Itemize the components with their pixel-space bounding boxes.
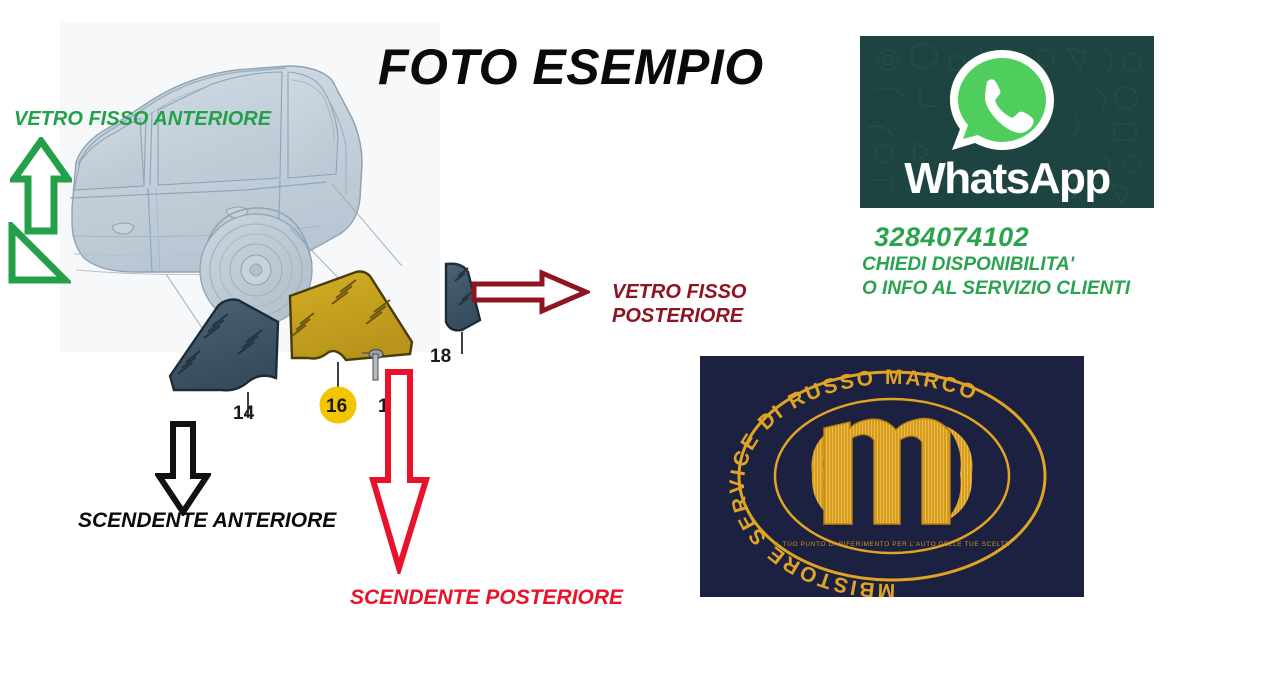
shop-logo-image: MRICAMBISTORE SERVICE DI RUSSO MARCO IL … (700, 356, 1084, 597)
right-arrow-dark-red-icon (470, 268, 590, 316)
shop-logo-tagline: IL TUO PUNTO DI RIFERIMENTO PER L'AUTO D… (774, 541, 1010, 548)
callout-scendente-posteriore: SCENDENTE POSTERIORE (350, 586, 623, 611)
callout-scendente-anteriore: SCENDENTE ANTERIORE (78, 509, 336, 534)
down-arrow-black-icon (155, 420, 211, 516)
down-arrow-red-icon (368, 368, 430, 574)
callout-vetro-fisso-anteriore: VETRO FISSO ANTERIORE (14, 108, 271, 132)
callout-vetro-fisso-posteriore-line2: POSTERIORE (612, 305, 746, 329)
contact-line-1: CHIEDI DISPONIBILITA' (862, 253, 1202, 277)
page-title: FOTO ESEMPIO (378, 38, 764, 96)
whatsapp-banner: WhatsApp (860, 36, 1154, 208)
part-number-16: 16 (326, 396, 347, 418)
phone-number[interactable]: 3284074102 (874, 222, 1202, 253)
contact-line-2: O INFO AL SERVIZIO CLIENTI (862, 277, 1202, 301)
triangle-green-icon (5, 222, 71, 286)
part-number-14: 14 (233, 403, 254, 425)
mricambistore-logo-icon: MRICAMBISTORE SERVICE DI RUSSO MARCO IL … (700, 356, 1084, 597)
callout-vetro-fisso-posteriore-line1: VETRO FISSO (612, 281, 746, 305)
whatsapp-logo-icon (942, 44, 1062, 162)
contact-info-block: 3284074102 CHIEDI DISPONIBILITA' O INFO … (862, 222, 1202, 302)
part-number-18: 18 (430, 346, 451, 368)
screenshot-canvas: 14 16 17 18 FOTO ESEMPIO VETRO FISSO ANT… (0, 0, 1264, 678)
callout-vetro-fisso-posteriore: VETRO FISSO POSTERIORE (612, 281, 746, 328)
whatsapp-wordmark: WhatsApp (860, 154, 1154, 204)
up-arrow-green-icon (10, 137, 72, 235)
shop-logo-monogram (812, 419, 973, 525)
part-14-shape (170, 300, 278, 418)
